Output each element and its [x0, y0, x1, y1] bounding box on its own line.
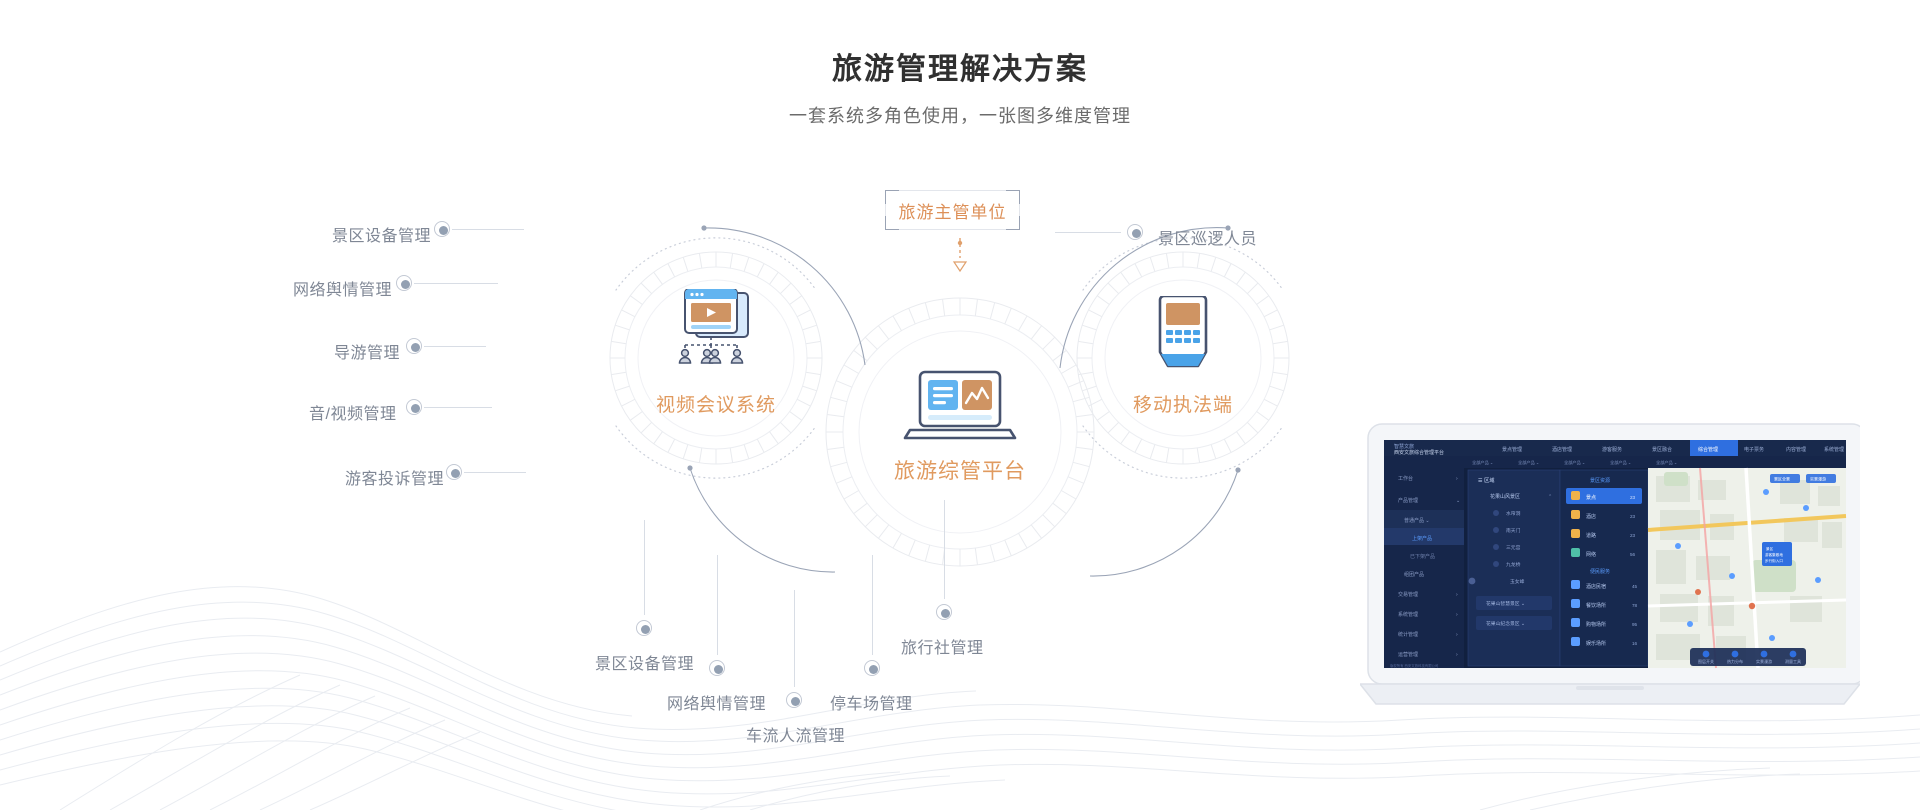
right-label-dot-0[interactable] [1127, 224, 1143, 240]
svg-text:⌃: ⌃ [1548, 494, 1552, 500]
left-label-4[interactable]: 游客投诉管理 [345, 465, 444, 489]
svg-text:系统管理: 系统管理 [1398, 611, 1418, 618]
svg-text:统计管理: 统计管理 [1398, 631, 1418, 638]
arc-left-bottom [690, 468, 835, 572]
svg-text:23: 23 [1630, 533, 1636, 538]
bottom-label-line-1 [717, 555, 718, 655]
bottom-label-line-4 [944, 500, 945, 599]
bottom-label-line-0 [644, 520, 645, 615]
svg-text:运营管理: 运营管理 [1398, 651, 1418, 658]
svg-text:产品管理: 产品管理 [1398, 497, 1418, 504]
svg-text:酒店: 酒店 [1586, 513, 1596, 520]
svg-text:游客服务: 游客服务 [1602, 446, 1622, 453]
admin-unit-box[interactable]: 旅游主管单位 [885, 190, 1020, 230]
svg-text:95: 95 [1632, 622, 1638, 627]
video-conference-icon [671, 289, 763, 365]
svg-text:内容管理: 内容管理 [1786, 446, 1806, 453]
bottom-label-0[interactable]: 景区设备管理 [595, 650, 694, 674]
svg-text:景区资源: 景区资源 [1590, 477, 1610, 484]
svg-text:景区全景: 景区全景 [1774, 476, 1790, 482]
svg-text:购物场所: 购物场所 [1586, 621, 1606, 628]
svg-text:56: 56 [1630, 552, 1636, 557]
left-label-dot-0[interactable] [434, 221, 450, 237]
bottom-label-2[interactable]: 车流人流管理 [746, 722, 845, 746]
arc-right-bottom [1090, 470, 1238, 576]
svg-text:餐饮场所: 餐饮场所 [1586, 602, 1606, 609]
svg-text:九龙桥: 九龙桥 [1506, 561, 1521, 568]
svg-text:南天门: 南天门 [1506, 527, 1521, 534]
bottom-label-dot-4[interactable] [936, 604, 952, 620]
svg-text:交易管理: 交易管理 [1398, 591, 1418, 598]
svg-text:实景漫游: 实景漫游 [1810, 476, 1826, 482]
svg-text:系统管理: 系统管理 [1824, 446, 1844, 453]
svg-text:16: 16 [1632, 641, 1638, 646]
left-label-dot-4[interactable] [446, 464, 462, 480]
svg-text:景区融合: 景区融合 [1652, 446, 1672, 453]
left-label-line-4 [464, 472, 526, 473]
svg-text:78: 78 [1632, 603, 1638, 608]
svg-text:工作台: 工作台 [1398, 475, 1413, 482]
svg-text:⌄: ⌄ [1456, 498, 1460, 504]
laptop-dashboard-icon [900, 370, 1020, 446]
svg-text:步行街入口: 步行街入口 [1765, 558, 1783, 563]
svg-text:花果山智慧景区 ⌄: 花果山智慧景区 ⌄ [1486, 600, 1525, 607]
left-label-line-3 [424, 407, 492, 408]
bottom-label-dot-1[interactable] [709, 660, 725, 676]
bottom-label-line-2 [794, 590, 795, 687]
svg-text:45: 45 [1632, 584, 1638, 589]
svg-text:酒店民宿: 酒店民宿 [1586, 583, 1606, 590]
handheld-device-icon [1152, 296, 1214, 374]
bottom-label-4[interactable]: 旅行社管理 [901, 634, 984, 658]
svg-text:玉女峰: 玉女峰 [1510, 578, 1525, 585]
left-label-dot-2[interactable] [406, 338, 422, 354]
left-label-dot-1[interactable] [396, 275, 412, 291]
admin-arrow-icon [954, 262, 966, 271]
admin-unit-label: 旅游主管单位 [899, 198, 1007, 223]
svg-text:网络: 网络 [1586, 551, 1596, 558]
bottom-label-1[interactable]: 网络舆情管理 [667, 690, 766, 714]
product-screenshot-laptop: 智慧文旅 西安文旅综合管理平台 景点管理酒店管理 游客服务景区融合 综合管理 电… [1360, 410, 1860, 720]
svg-text:组团产品: 组团产品 [1404, 571, 1424, 578]
svg-text:上架产品: 上架产品 [1412, 535, 1432, 542]
left-label-dot-3[interactable] [406, 399, 422, 415]
node-title-video: 视频会议系统 [616, 390, 816, 417]
svg-text:测量工具: 测量工具 [1785, 658, 1801, 664]
svg-text:景点管理: 景点管理 [1502, 446, 1522, 453]
left-label-0[interactable]: 景区设备管理 [332, 222, 431, 246]
svg-text:水帘洞: 水帘洞 [1506, 510, 1521, 517]
svg-text:全部产品 ⌄: 全部产品 ⌄ [1564, 459, 1585, 466]
bottom-label-dot-3[interactable] [864, 660, 880, 676]
svg-text:综合管理: 综合管理 [1698, 446, 1718, 453]
svg-text:23: 23 [1630, 514, 1636, 519]
svg-text:智慧文旅: 智慧文旅 [1394, 443, 1414, 450]
svg-text:景点: 景点 [1586, 494, 1596, 501]
svg-text:便民服务: 便民服务 [1590, 568, 1610, 575]
svg-text:游客集散地: 游客集散地 [1765, 552, 1783, 557]
svg-text:23: 23 [1630, 495, 1636, 500]
svg-text:实景漫游: 实景漫游 [1756, 658, 1772, 664]
svg-text:热力分布: 热力分布 [1727, 658, 1743, 664]
svg-text:西安文旅综合管理平台: 西安文旅综合管理平台 [1394, 449, 1444, 456]
svg-text:景区: 景区 [1766, 546, 1774, 551]
svg-text:娱乐场所: 娱乐场所 [1586, 640, 1606, 647]
bottom-label-3[interactable]: 停车场管理 [830, 690, 913, 714]
svg-text:全部产品 ⌄: 全部产品 ⌄ [1472, 459, 1493, 466]
svg-text:全部产品 ⌄: 全部产品 ⌄ [1656, 459, 1677, 466]
svg-text:普通产品 ⌄: 普通产品 ⌄ [1404, 517, 1430, 524]
infographic-page: 旅游管理解决方案 一套系统多角色使用，一张图多维度管理 [0, 0, 1920, 810]
svg-text:图层开关: 图层开关 [1698, 658, 1714, 664]
svg-text:电子票务: 电子票务 [1744, 446, 1764, 453]
bottom-label-line-3 [872, 555, 873, 655]
svg-text:已下架产品: 已下架产品 [1410, 553, 1435, 560]
right-label-0[interactable]: 景区巡逻人员 [1158, 225, 1257, 249]
node-title-mobile: 移动执法端 [1093, 390, 1273, 417]
svg-text:道路: 道路 [1586, 532, 1596, 539]
left-label-2[interactable]: 导游管理 [334, 339, 400, 363]
svg-text:☰ 区域: ☰ 区域 [1478, 476, 1494, 484]
left-label-line-1 [414, 283, 498, 284]
left-label-1[interactable]: 网络舆情管理 [293, 276, 392, 300]
svg-text:全部产品 ⌄: 全部产品 ⌄ [1610, 459, 1631, 466]
svg-text:三元宫: 三元宫 [1506, 544, 1521, 551]
svg-text:全部产品 ⌄: 全部产品 ⌄ [1518, 459, 1539, 466]
svg-text:版权所有 西安文旅科技有限公司: 版权所有 西安文旅科技有限公司 [1390, 663, 1438, 668]
left-label-line-0 [452, 229, 524, 230]
left-label-line-2 [424, 346, 486, 347]
svg-text:花果山纪念景区 ⌄: 花果山纪念景区 ⌄ [1486, 620, 1525, 627]
svg-text:酒店管理: 酒店管理 [1552, 446, 1572, 453]
right-label-line-0 [1055, 232, 1121, 233]
left-label-3[interactable]: 音/视频管理 [309, 400, 396, 424]
svg-text:花果山风景区: 花果山风景区 [1490, 493, 1520, 500]
bottom-label-dot-0[interactable] [636, 620, 652, 636]
bottom-label-dot-2[interactable] [786, 692, 802, 708]
node-title-platform: 旅游综管平台 [850, 455, 1070, 485]
